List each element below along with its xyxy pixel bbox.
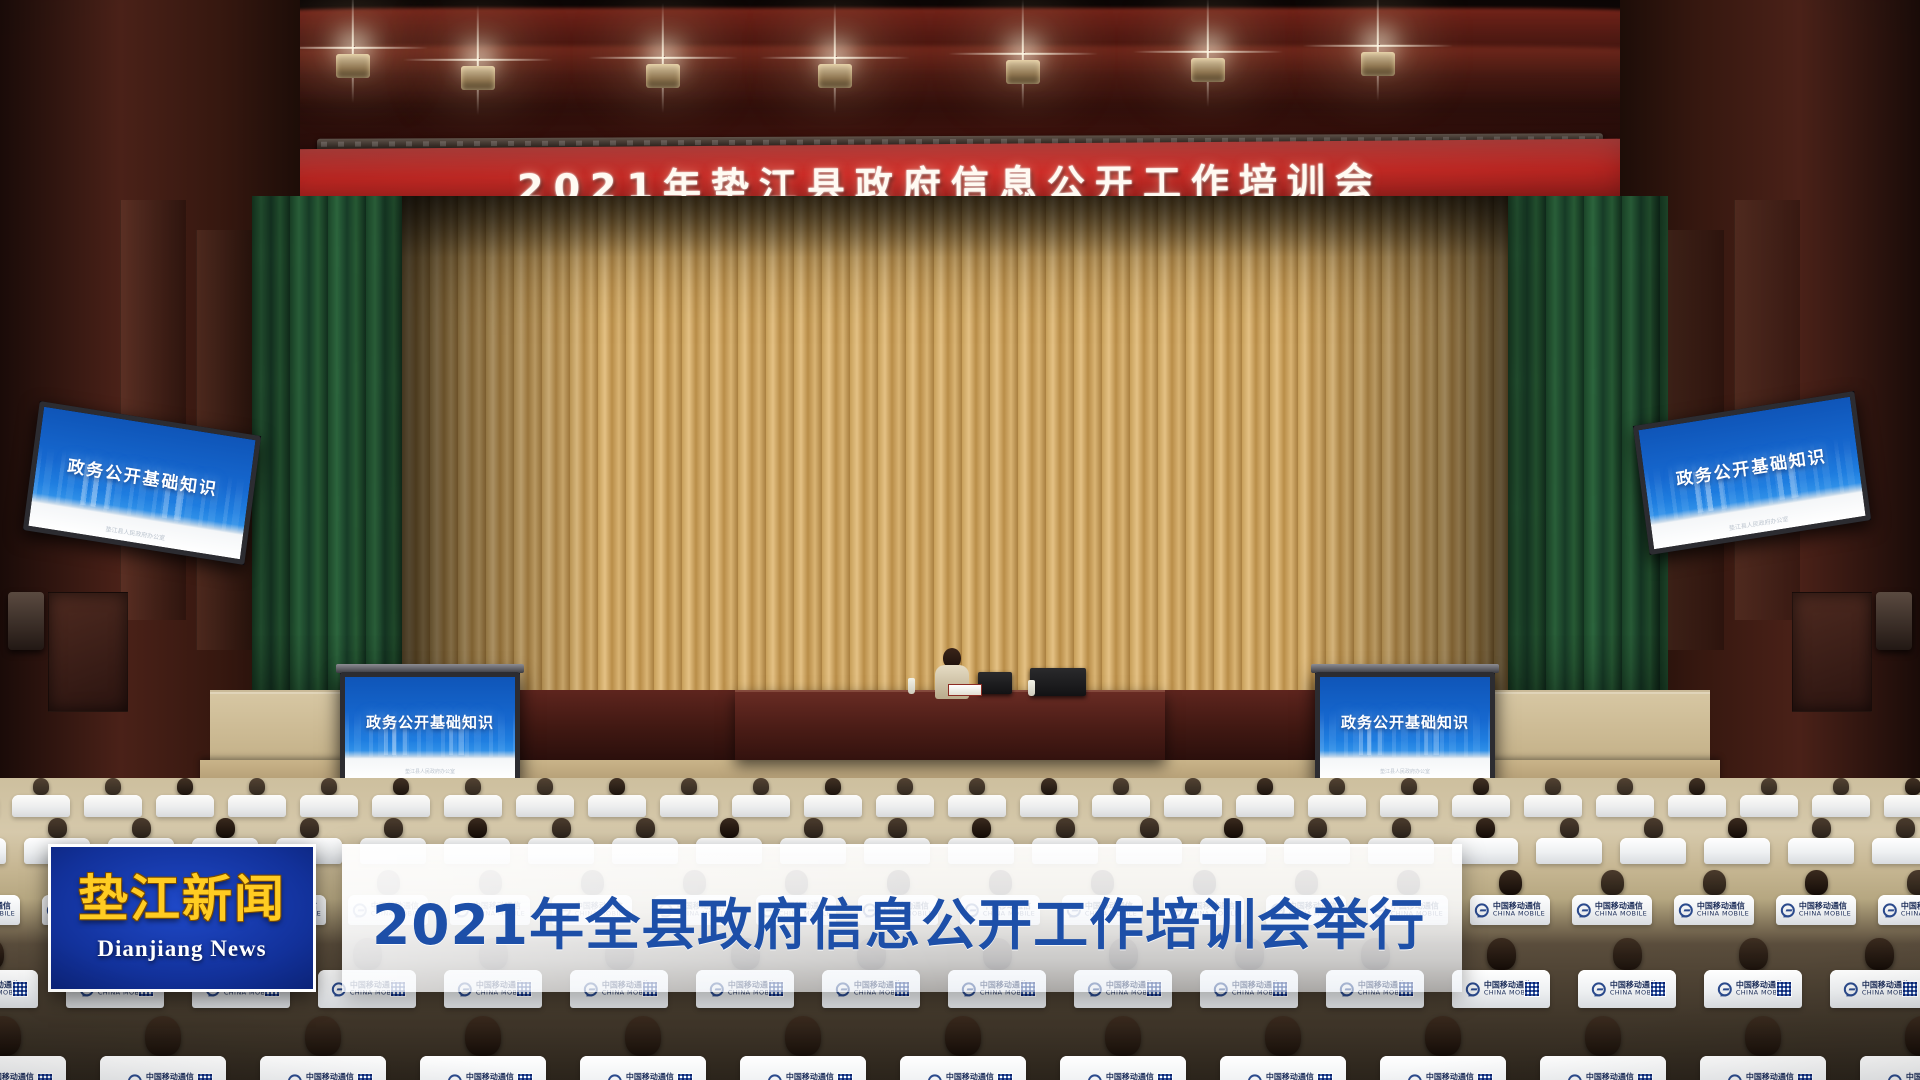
audience-member <box>300 818 319 838</box>
seat-cover: 中国移动通信CHINA MOBILE <box>1452 970 1550 1008</box>
china-mobile-mark-icon <box>1475 903 1489 917</box>
seat-brand-cn: 中国移动通信 <box>626 1073 678 1080</box>
audience-member <box>1265 1016 1301 1056</box>
china-mobile-mark-icon <box>1718 982 1732 996</box>
seat-cover <box>1884 795 1920 817</box>
display-bezel <box>340 672 520 784</box>
qr-code-icon <box>997 1073 1013 1080</box>
china-mobile-logo: 中国移动通信CHINA MOBILE <box>1408 1073 1478 1080</box>
audience-seat-unit <box>1452 778 1510 817</box>
seat-cover <box>660 795 718 817</box>
seat-cover <box>1668 795 1726 817</box>
seat-cover <box>948 795 1006 817</box>
audience-member <box>1703 870 1726 895</box>
audience-seat-unit <box>1668 778 1726 817</box>
china-mobile-mark-icon <box>1408 1074 1422 1080</box>
china-mobile-mark-icon <box>1883 903 1897 917</box>
broadcast-frame: 2021年垫江县政府信息公开工作培训会 <box>0 0 1920 1080</box>
lower-third-graphics: 垫江新闻 Dianjiang News 2021年全县政府信息公开工作培训会举行 <box>48 844 1462 992</box>
audience-seat-unit <box>1704 818 1770 864</box>
audience-member <box>609 778 625 795</box>
audience-member <box>249 778 265 795</box>
audience-seat-unit: 中国移动通信CHINA MOBILE <box>0 938 38 1008</box>
seat-cover <box>372 795 430 817</box>
audience-member <box>1257 778 1273 795</box>
seat-cover: 中国移动通信CHINA MOBILE <box>1830 970 1920 1008</box>
seat-cover <box>588 795 646 817</box>
qr-code-icon <box>837 1073 853 1080</box>
audience-seat-unit <box>12 778 70 817</box>
china-mobile-logo: 中国移动通信CHINA MOBILE <box>1475 902 1545 917</box>
audience-member <box>1056 818 1075 838</box>
seat-cover <box>1524 795 1582 817</box>
audience-seat-unit <box>1596 778 1654 817</box>
audience-member <box>105 778 121 795</box>
audience-member <box>1689 778 1705 795</box>
name-plate <box>948 684 982 696</box>
audience-member <box>1896 818 1915 838</box>
audience-member <box>216 818 235 838</box>
seat-cover: 中国移动通信CHINA MOBILE <box>1578 970 1676 1008</box>
seat-cover: 中国移动通信CHINA MOBILE <box>1060 1056 1186 1080</box>
seat-cover <box>1380 795 1438 817</box>
china-mobile-mark-icon <box>1844 982 1858 996</box>
acoustic-panel <box>48 592 128 712</box>
china-mobile-logo: 中国移动通信CHINA MOBILE <box>1679 902 1749 917</box>
audience-member <box>636 818 655 838</box>
station-logo: 垫江新闻 Dianjiang News <box>48 844 316 992</box>
seat-cover <box>156 795 214 817</box>
china-mobile-mark-icon <box>1728 1074 1742 1080</box>
seat-brand-cn: 中国移动通信 <box>1746 1073 1798 1080</box>
qr-code-icon <box>1650 981 1666 997</box>
seat-brand-en: CHINA MOBILE <box>1697 911 1749 918</box>
seat-cover <box>1872 838 1920 864</box>
seat-cover <box>1788 838 1854 864</box>
seat-brand-cn: 中国移动通信 <box>1586 1073 1638 1080</box>
audience-seat-unit: 中国移动通信CHINA MOBILE <box>580 1016 706 1080</box>
audience-seat-unit: 中国移动通信CHINA MOBILE <box>1380 1016 1506 1080</box>
china-mobile-logo: 中国移动通信CHINA MOBILE <box>128 1073 198 1080</box>
seat-cover <box>1308 795 1366 817</box>
qr-code-icon <box>517 1073 533 1080</box>
audience-seat-unit: 中国移动通信CHINA MOBILE <box>1572 870 1652 925</box>
audience-seat-unit <box>948 778 1006 817</box>
audience-member <box>321 778 337 795</box>
audience-member <box>1473 778 1489 795</box>
seat-brand-cn: 中国移动通信 <box>466 1073 518 1080</box>
display-bezel <box>1315 672 1495 784</box>
seat-brand-cn: 中国移动通信 <box>1426 1073 1478 1080</box>
seat-brand-cn: 中国移动通信 <box>0 1073 38 1080</box>
audience-member <box>720 818 739 838</box>
audience-seat-unit: 中国移动通信CHINA MOBILE <box>1452 938 1550 1008</box>
audience-member <box>465 778 481 795</box>
qr-code-icon <box>1477 1073 1493 1080</box>
audience-member <box>1601 870 1624 895</box>
audience-seat-unit <box>84 778 142 817</box>
seat-cover <box>732 795 790 817</box>
audience-member <box>1041 778 1057 795</box>
audience-member <box>1476 818 1495 838</box>
audience-seat-unit <box>372 778 430 817</box>
qr-code-icon <box>12 981 28 997</box>
qr-code-icon <box>1797 1073 1813 1080</box>
audience-member <box>537 778 553 795</box>
audience-seat-unit <box>1740 778 1798 817</box>
audience-seat-unit <box>732 778 790 817</box>
acoustic-panel <box>1792 592 1872 712</box>
audience-seat-unit: 中国移动通信CHINA MOBILE <box>1776 870 1856 925</box>
audience-seat-unit <box>1524 778 1582 817</box>
audience-seat-unit <box>588 778 646 817</box>
seat-cover <box>1620 838 1686 864</box>
audience-seat-unit: 中国移动通信CHINA MOBILE <box>1540 1016 1666 1080</box>
audience-seat-unit: 中国移动通信CHINA MOBILE <box>0 870 20 925</box>
seat-cover: 中国移动通信CHINA MOBILE <box>260 1056 386 1080</box>
china-mobile-mark-icon <box>1781 903 1795 917</box>
qr-code-icon <box>1902 981 1918 997</box>
audience-member <box>1617 778 1633 795</box>
seat-cover: 中国移动通信CHINA MOBILE <box>1380 1056 1506 1080</box>
audience-member <box>305 1016 341 1056</box>
china-mobile-logo: 中国移动通信CHINA MOBILE <box>288 1073 358 1080</box>
audience-seat-unit <box>1164 778 1222 817</box>
audience-member <box>972 818 991 838</box>
audience-member <box>1113 778 1129 795</box>
seat-cover: 中国移动通信CHINA MOBILE <box>1572 895 1652 925</box>
audience-seat-unit: 中国移动通信CHINA MOBILE <box>1704 938 1802 1008</box>
audience-member <box>48 818 67 838</box>
audience-seat-unit <box>1092 778 1150 817</box>
audience-seat-unit: 中国移动通信CHINA MOBILE <box>260 1016 386 1080</box>
qr-code-icon <box>357 1073 373 1080</box>
seat-cover: 中国移动通信CHINA MOBILE <box>1776 895 1856 925</box>
audience-member <box>1907 870 1920 895</box>
audience-member <box>1739 938 1768 970</box>
china-mobile-mark-icon <box>448 1074 462 1080</box>
seat-cover: 中国移动通信CHINA MOBILE <box>1540 1056 1666 1080</box>
seat-cover: 中国移动通信CHINA MOBILE <box>1860 1056 1920 1080</box>
headline-text: 2021年全县政府信息公开工作培训会举行 <box>342 880 1425 960</box>
china-mobile-mark-icon <box>288 1074 302 1080</box>
seat-brand-en: CHINA MOBILE <box>1901 911 1920 918</box>
audience-member <box>1308 818 1327 838</box>
seat-cover <box>12 795 70 817</box>
seat-brand-cn: 中国移动通信 <box>1266 1073 1318 1080</box>
audience-member <box>804 818 823 838</box>
china-mobile-logo: 中国移动通信CHINA MOBILE <box>1248 1073 1318 1080</box>
audience-member <box>384 818 403 838</box>
audience-seat-unit <box>444 778 502 817</box>
stage-light <box>1185 50 1231 84</box>
china-mobile-mark-icon <box>608 1074 622 1080</box>
seat-cover <box>876 795 934 817</box>
seat-cover <box>300 795 358 817</box>
china-mobile-mark-icon <box>768 1074 782 1080</box>
seat-brand-cn: 中国移动通信 <box>786 1073 838 1080</box>
seat-brand-cn: 中国移动通信 <box>1906 1073 1920 1080</box>
desk-monitor <box>978 672 1012 694</box>
audience-seat-unit: 中国移动通信CHINA MOBILE <box>420 1016 546 1080</box>
seat-brand-cn: 中国移动通信 <box>1106 1073 1158 1080</box>
seat-cover <box>444 795 502 817</box>
seat-cover: 中国移动通信CHINA MOBILE <box>1700 1056 1826 1080</box>
audience-seat-unit: 中国移动通信CHINA MOBILE <box>1830 938 1920 1008</box>
audience-member <box>1812 818 1831 838</box>
seat-brand-en: CHINA MOBILE <box>1493 911 1545 918</box>
audience-member <box>145 1016 181 1056</box>
head-table <box>735 690 1165 760</box>
qr-code-icon <box>677 1073 693 1080</box>
audience-seat-unit: 中国移动通信CHINA MOBILE <box>0 1016 66 1080</box>
seat-cover <box>1596 795 1654 817</box>
qr-code-icon <box>1776 981 1792 997</box>
seat-cover <box>1236 795 1294 817</box>
audience-seat-unit: 中国移动通信CHINA MOBILE <box>1878 870 1920 925</box>
stage-light <box>330 46 376 80</box>
seat-cover <box>84 795 142 817</box>
audience-seat-unit <box>876 778 934 817</box>
china-mobile-logo: 中国移动通信CHINA MOBILE <box>1088 1073 1158 1080</box>
audience-seat-unit <box>300 778 358 817</box>
water-bottle <box>1028 680 1035 696</box>
seat-cover: 中国移动通信CHINA MOBILE <box>1470 895 1550 925</box>
seat-cover: 中国移动通信CHINA MOBILE <box>740 1056 866 1080</box>
china-mobile-mark-icon <box>1248 1074 1262 1080</box>
china-mobile-logo: 中国移动通信CHINA MOBILE <box>608 1073 678 1080</box>
china-mobile-mark-icon <box>1577 903 1591 917</box>
audience-member <box>785 1016 821 1056</box>
seat-cover: 中国移动通信CHINA MOBILE <box>1674 895 1754 925</box>
seat-cover <box>1164 795 1222 817</box>
audience-member <box>33 778 49 795</box>
qr-code-icon <box>1637 1073 1653 1080</box>
audience-seat-unit <box>1620 818 1686 864</box>
seat-brand-cn: 中国移动通信 <box>946 1073 998 1080</box>
water-bottle <box>908 678 915 694</box>
seat-cover <box>1536 838 1602 864</box>
audience-seat-unit <box>228 778 286 817</box>
audience-seat-unit: 中国移动通信CHINA MOBILE <box>1060 1016 1186 1080</box>
audience-seat-unit <box>804 778 862 817</box>
audience-member <box>1805 870 1828 895</box>
audience-member <box>945 1016 981 1056</box>
audience-member <box>552 818 571 838</box>
seat-cover: 中国移动通信CHINA MOBILE <box>0 895 20 925</box>
stage-light <box>1000 52 1046 86</box>
headline-banner: 2021年全县政府信息公开工作培训会举行 <box>342 844 1462 992</box>
audience-member <box>132 818 151 838</box>
audience-seat-unit <box>1380 778 1438 817</box>
seat-cover: 中国移动通信CHINA MOBILE <box>420 1056 546 1080</box>
audience-seat-unit <box>1536 818 1602 864</box>
audience-member <box>1401 778 1417 795</box>
audience-member <box>1613 938 1642 970</box>
china-mobile-mark-icon <box>1679 903 1693 917</box>
qr-code-icon <box>1157 1073 1173 1080</box>
china-mobile-mark-icon <box>1466 982 1480 996</box>
seat-brand-cn: 中国移动通信 <box>146 1073 198 1080</box>
audience-member <box>465 1016 501 1056</box>
audience-member <box>0 938 4 970</box>
audience-seat-unit: 中国移动通信CHINA MOBILE <box>1860 1016 1920 1080</box>
audience-seat-unit: 中国移动通信CHINA MOBILE <box>1470 870 1550 925</box>
audience-seat-unit: 中国移动通信CHINA MOBILE <box>1220 1016 1346 1080</box>
stage-light <box>455 58 501 92</box>
china-mobile-mark-icon <box>1592 982 1606 996</box>
seat-cover: 中国移动通信CHINA MOBILE <box>1220 1056 1346 1080</box>
china-mobile-logo: 中国移动通信CHINA MOBILE <box>768 1073 838 1080</box>
audience-seat-unit: 中国移动通信CHINA MOBILE <box>1578 938 1676 1008</box>
seat-cover <box>1092 795 1150 817</box>
seat-cover <box>1704 838 1770 864</box>
china-mobile-mark-icon <box>1888 1074 1902 1080</box>
audience-member <box>1865 938 1894 970</box>
audience-member <box>177 778 193 795</box>
station-name-en: Dianjiang News <box>97 936 266 962</box>
seat-brand-en: CHINA MOBILE <box>1595 911 1647 918</box>
qr-code-icon <box>1524 981 1540 997</box>
audience-member <box>1140 818 1159 838</box>
china-mobile-mark-icon <box>928 1074 942 1080</box>
station-name-cn: 垫江新闻 <box>78 874 286 924</box>
audience-member <box>1105 1016 1141 1056</box>
audience-seat-unit <box>0 818 6 864</box>
seat-cover: 中国移动通信CHINA MOBILE <box>100 1056 226 1080</box>
qr-code-icon <box>197 1073 213 1080</box>
audience-member <box>825 778 841 795</box>
seat-cover: 中国移动通信CHINA MOBILE <box>1878 895 1920 925</box>
audience-member <box>1224 818 1243 838</box>
audience-seat-unit <box>1788 818 1854 864</box>
audience-seat-unit: 中国移动通信CHINA MOBILE <box>100 1016 226 1080</box>
audience-member <box>681 778 697 795</box>
audience-seat-unit <box>1308 778 1366 817</box>
audience-member <box>888 818 907 838</box>
wall-speaker <box>1876 592 1912 650</box>
audience-member <box>969 778 985 795</box>
china-mobile-logo: 中国移动通信CHINA MOBILE <box>1888 1073 1920 1080</box>
audience-member <box>753 778 769 795</box>
projection-screen-left: 政务公开基础知识 垫江县人民政府办公室 <box>340 672 520 784</box>
china-mobile-logo: 中国移动通信CHINA MOBILE <box>928 1073 998 1080</box>
audience-seat-unit <box>1812 778 1870 817</box>
china-mobile-logo: 中国移动通信CHINA MOBILE <box>1781 902 1851 917</box>
audience-member <box>897 778 913 795</box>
china-mobile-mark-icon <box>1088 1074 1102 1080</box>
audience-seat-unit <box>660 778 718 817</box>
audience-member <box>1644 818 1663 838</box>
audience-member <box>468 818 487 838</box>
qr-code-icon <box>1317 1073 1333 1080</box>
audience-member <box>393 778 409 795</box>
china-mobile-logo: 中国移动通信CHINA MOBILE <box>0 1073 38 1080</box>
audience-seat-unit: 中国移动通信CHINA MOBILE <box>740 1016 866 1080</box>
audience-member <box>1560 818 1579 838</box>
seat-cover <box>1740 795 1798 817</box>
seat-cover: 中国移动通信CHINA MOBILE <box>0 1056 66 1080</box>
audience-member <box>1585 1016 1621 1056</box>
seat-cover <box>228 795 286 817</box>
seat-cover: 中国移动通信CHINA MOBILE <box>1704 970 1802 1008</box>
qr-code-icon <box>37 1073 53 1080</box>
audience-member <box>0 1016 21 1056</box>
seat-cover: 中国移动通信CHINA MOBILE <box>580 1056 706 1080</box>
audience-seat-unit: 中国移动通信CHINA MOBILE <box>1700 1016 1826 1080</box>
china-mobile-logo: 中国移动通信CHINA MOBILE <box>448 1073 518 1080</box>
china-mobile-logo: 中国移动通信CHINA MOBILE <box>1728 1073 1798 1080</box>
seat-cover <box>804 795 862 817</box>
stage-light <box>1355 44 1401 78</box>
china-mobile-logo: 中国移动通信CHINA MOBILE <box>1577 902 1647 917</box>
audience-member <box>1329 778 1345 795</box>
china-mobile-mark-icon <box>1568 1074 1582 1080</box>
audience-seat-unit: 中国移动通信CHINA MOBILE <box>900 1016 1026 1080</box>
seat-cover <box>1452 795 1510 817</box>
audience-seat-unit <box>156 778 214 817</box>
audience-seat-unit: 中国移动通信CHINA MOBILE <box>1674 870 1754 925</box>
desk-monitor <box>1030 668 1086 696</box>
stage-light <box>812 56 858 90</box>
audience-seat-unit <box>1872 818 1920 864</box>
seat-cover <box>1020 795 1078 817</box>
china-mobile-mark-icon <box>128 1074 142 1080</box>
audience-member <box>625 1016 661 1056</box>
seat-cover: 中国移动通信CHINA MOBILE <box>0 970 38 1008</box>
projection-screen-right: 政务公开基础知识 垫江县人民政府办公室 <box>1315 672 1495 784</box>
seat-brand-en: CHINA MOBILE <box>0 911 15 918</box>
audience-seat-unit <box>1884 778 1920 817</box>
seat-brand-cn: 中国移动通信 <box>306 1073 358 1080</box>
audience-member <box>1905 778 1920 795</box>
audience-member <box>1833 778 1849 795</box>
stage-light <box>640 56 686 90</box>
audience-member <box>1425 1016 1461 1056</box>
china-mobile-logo: 中国移动通信CHINA MOBILE <box>1883 902 1920 917</box>
audience-member <box>1905 1016 1920 1056</box>
audience-member <box>1487 938 1516 970</box>
audience-member <box>1761 778 1777 795</box>
seat-cover <box>0 838 6 864</box>
seat-cover <box>516 795 574 817</box>
seat-cover <box>1812 795 1870 817</box>
audience-member <box>1392 818 1411 838</box>
seat-cover: 中国移动通信CHINA MOBILE <box>900 1056 1026 1080</box>
china-mobile-logo: 中国移动通信CHINA MOBILE <box>1568 1073 1638 1080</box>
audience-member <box>1545 778 1561 795</box>
china-mobile-logo: 中国移动通信CHINA MOBILE <box>0 902 15 917</box>
audience-member <box>1499 870 1522 895</box>
audience-member <box>1745 1016 1781 1056</box>
audience-seat-unit <box>516 778 574 817</box>
audience-seat-unit <box>1236 778 1294 817</box>
wall-speaker <box>8 592 44 650</box>
audience-member <box>1728 818 1747 838</box>
audience-seat-unit <box>1020 778 1078 817</box>
audience-member <box>1185 778 1201 795</box>
seat-brand-en: CHINA MOBILE <box>1799 911 1851 918</box>
